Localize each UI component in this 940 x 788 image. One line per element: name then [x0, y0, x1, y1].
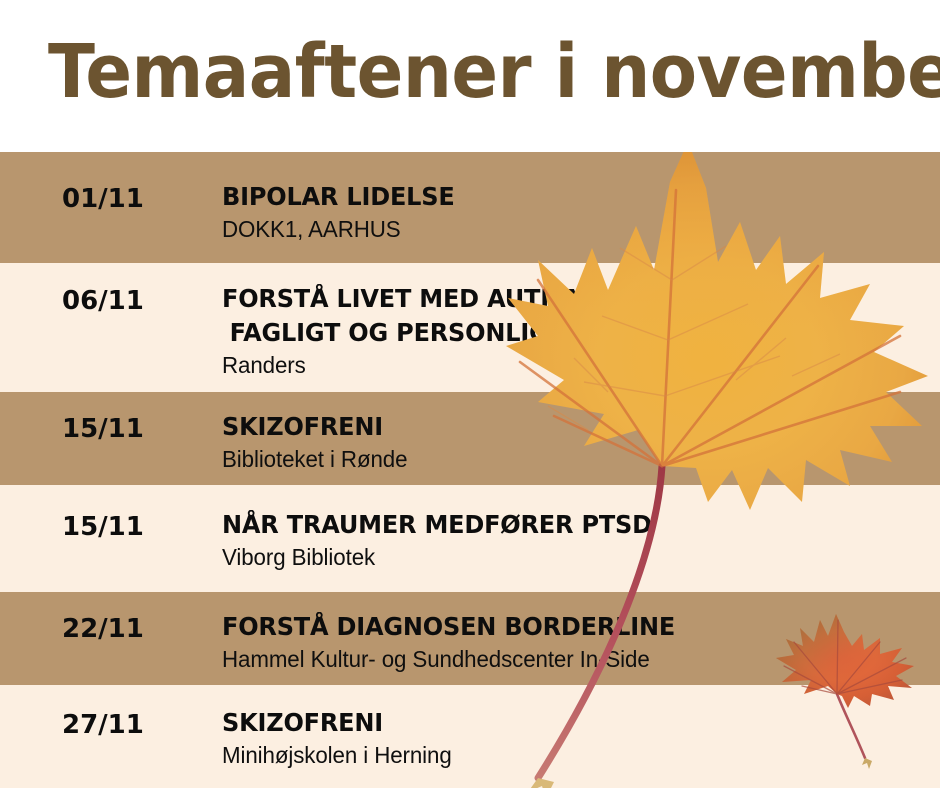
event-title: NÅR TRAUMER MEDFØRER PTSD	[222, 508, 902, 542]
poster: 01/11 BIPOLAR LIDELSE DOKK1, AARHUS 06/1…	[0, 0, 940, 788]
event-row: 27/11 SKIZOFRENI Minihøjskolen i Herning	[0, 685, 940, 788]
event-date: 01/11	[62, 184, 144, 214]
event-details: BIPOLAR LIDELSE DOKK1, AARHUS	[222, 180, 930, 244]
event-row: 06/11 FORSTÅ LIVET MED AUTISME UD FRA ET…	[0, 263, 940, 392]
event-details: SKIZOFRENI Minihøjskolen i Herning	[222, 706, 930, 770]
event-date: 22/11	[62, 614, 144, 644]
event-venue: Minihøjskolen i Herning	[222, 740, 909, 770]
event-details: NÅR TRAUMER MEDFØRER PTSD Viborg Bibliot…	[222, 508, 930, 572]
event-venue: Viborg Bibliotek	[222, 542, 909, 572]
page-title: Temaaftener i november	[48, 24, 940, 120]
event-title: SKIZOFRENI	[222, 410, 902, 444]
event-date: 15/11	[62, 512, 144, 542]
event-details: SKIZOFRENI Biblioteket i Rønde	[222, 410, 930, 474]
event-date: 06/11	[62, 286, 144, 316]
event-venue: Randers	[222, 350, 909, 380]
event-row: 01/11 BIPOLAR LIDELSE DOKK1, AARHUS	[0, 152, 940, 263]
event-list: 01/11 BIPOLAR LIDELSE DOKK1, AARHUS 06/1…	[0, 152, 940, 788]
event-title: FORSTÅ LIVET MED AUTISME UD FRA ET	[222, 282, 902, 316]
event-row: 15/11 SKIZOFRENI Biblioteket i Rønde	[0, 392, 940, 485]
event-date: 15/11	[62, 414, 144, 444]
event-venue: DOKK1, AARHUS	[222, 214, 909, 244]
event-title-continued: FAGLIGT OG PERSONLIGT PERSPEKTIV	[222, 316, 902, 350]
event-title: FORSTÅ DIAGNOSEN BORDERLINE	[222, 610, 902, 644]
event-title: BIPOLAR LIDELSE	[222, 180, 902, 214]
event-venue: Hammel Kultur- og Sundhedscenter In-Side	[222, 644, 909, 674]
event-details: FORSTÅ LIVET MED AUTISME UD FRA ET FAGLI…	[222, 282, 930, 380]
event-row: 15/11 NÅR TRAUMER MEDFØRER PTSD Viborg B…	[0, 485, 940, 592]
event-date: 27/11	[62, 710, 144, 740]
title-banner: Temaaftener i november	[0, 0, 940, 152]
event-row: 22/11 FORSTÅ DIAGNOSEN BORDERLINE Hammel…	[0, 592, 940, 685]
event-details: FORSTÅ DIAGNOSEN BORDERLINE Hammel Kultu…	[222, 610, 930, 674]
event-title: SKIZOFRENI	[222, 706, 902, 740]
event-venue: Biblioteket i Rønde	[222, 444, 909, 474]
